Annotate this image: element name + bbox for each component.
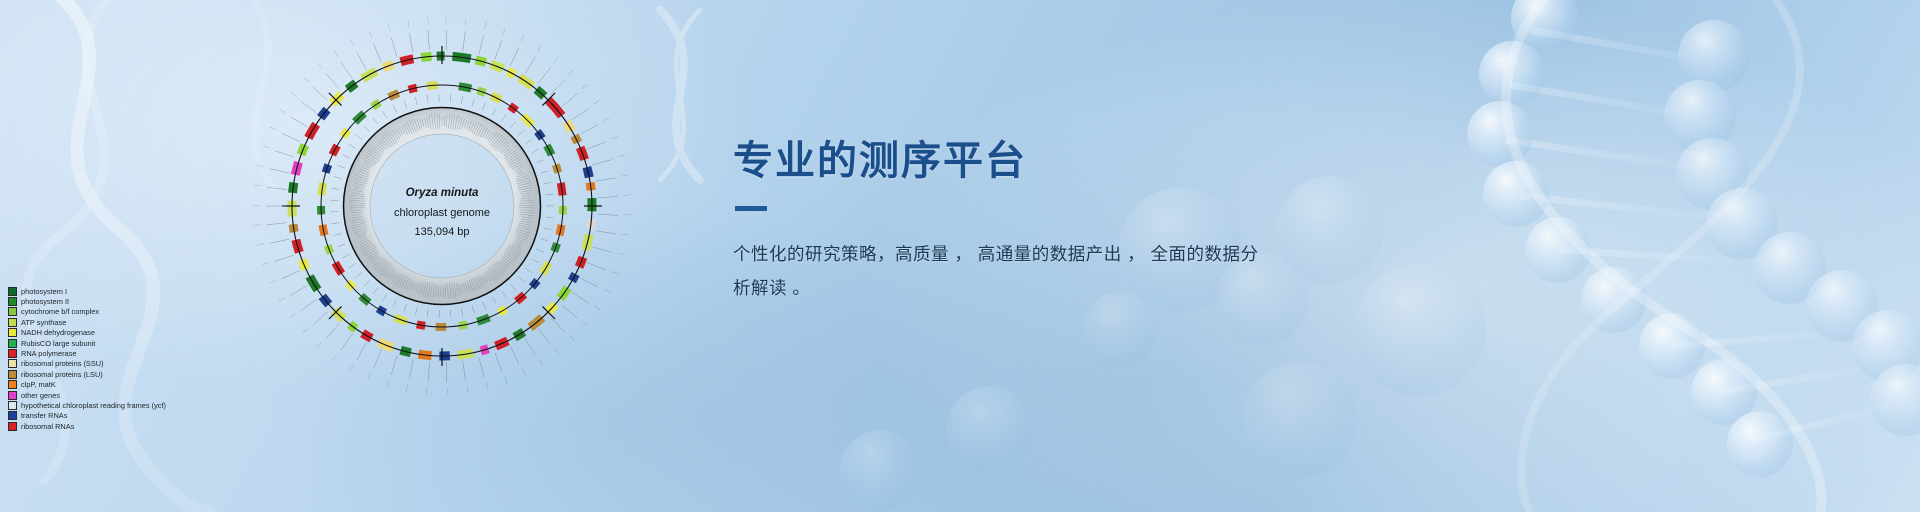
legend-color-swatch xyxy=(8,380,17,389)
genome-species-name: Oryza minuta xyxy=(406,187,479,199)
svg-text:——: —— xyxy=(624,193,632,197)
legend-item-label: transfer RNAs xyxy=(21,411,67,420)
legend-item: hypothetical chloroplast reading frames … xyxy=(8,400,298,410)
legend-color-swatch xyxy=(8,297,17,306)
legend-item: RNA polymerase xyxy=(8,348,298,358)
legend-color-swatch xyxy=(8,411,17,420)
legend-item-label: RubisCO large subunit xyxy=(21,339,95,348)
svg-text:——: —— xyxy=(622,232,630,237)
svg-text:——: —— xyxy=(256,242,264,248)
svg-text:——: —— xyxy=(617,153,625,159)
svg-text:——: —— xyxy=(262,144,270,150)
svg-text:——: —— xyxy=(315,341,323,349)
svg-text:——: —— xyxy=(253,203,261,207)
legend-color-swatch xyxy=(8,287,17,296)
svg-text:——: —— xyxy=(519,34,526,43)
legend-color-swatch xyxy=(8,359,17,368)
legend-color-swatch xyxy=(8,318,17,327)
svg-text:——: —— xyxy=(592,99,601,107)
svg-text:——: —— xyxy=(602,116,611,123)
svg-text:——: —— xyxy=(254,183,262,188)
svg-text:——: —— xyxy=(465,386,470,394)
svg-text:——: —— xyxy=(611,269,620,275)
svg-text:——: —— xyxy=(385,379,391,387)
svg-text:——: —— xyxy=(254,222,262,227)
genome-type-label: chloroplast genome xyxy=(394,207,490,219)
genome-size-label: 135,094 bp xyxy=(414,226,469,238)
svg-text:——: —— xyxy=(349,39,356,48)
svg-text:——: —— xyxy=(580,83,588,91)
legend-item-label: ribosomal proteins (LSU) xyxy=(21,370,103,379)
svg-text:——: —— xyxy=(386,24,392,32)
svg-text:——: —— xyxy=(552,55,560,63)
svg-text:——: —— xyxy=(444,16,448,24)
svg-text:——: —— xyxy=(332,50,340,59)
legend-item-label: ATP synthase xyxy=(21,318,66,327)
legend-item: other genes xyxy=(8,390,298,400)
legend-item: RubisCO large subunit xyxy=(8,338,298,348)
legend-item: NADH dehydrogenase xyxy=(8,328,298,338)
svg-text:——: —— xyxy=(621,173,629,178)
legend-item-label: NADH dehydrogenase xyxy=(21,328,95,337)
mid-dna-fragment xyxy=(660,10,700,180)
legend-item-label: RNA polymerase xyxy=(21,349,76,358)
legend-color-swatch xyxy=(8,339,17,348)
legend-item: ATP synthase xyxy=(8,317,298,327)
svg-text:——: —— xyxy=(446,388,450,396)
svg-text:——: —— xyxy=(367,31,374,40)
svg-text:——: —— xyxy=(269,278,278,285)
legend-item: clpP, matK xyxy=(8,380,298,390)
svg-text:——: —— xyxy=(503,376,509,385)
svg-text:——: —— xyxy=(257,163,265,169)
svg-text:——: —— xyxy=(463,18,468,26)
legend-item: photosystem I xyxy=(8,286,298,296)
svg-text:——: —— xyxy=(366,372,373,381)
legend-item-label: cytochrome b/f complex xyxy=(21,307,99,316)
legend-item-label: photosystem I xyxy=(21,287,67,296)
svg-text:——: —— xyxy=(302,76,310,84)
svg-text:——: —— xyxy=(301,327,309,335)
headline-underline-rule xyxy=(735,206,767,211)
svg-text:——: —— xyxy=(484,382,490,390)
legend-item-label: clpP, matK xyxy=(21,380,56,389)
svg-text:——: —— xyxy=(424,387,429,395)
hero-banner: ————————————————————————————————————————… xyxy=(0,0,1920,512)
legend-item: transfer RNAs xyxy=(8,411,298,421)
svg-text:——: —— xyxy=(426,17,431,25)
legend-color-swatch xyxy=(8,349,17,358)
svg-text:——: —— xyxy=(538,359,545,368)
legend-item-label: ribosomal proteins (SSU) xyxy=(21,359,104,368)
svg-text:——: —— xyxy=(617,251,625,257)
banner-copy: 专业的测序平台 个性化的研究策略，高质量 ， 高通量的数据产出 ， 全面的数据分… xyxy=(733,138,1433,305)
legend-color-swatch xyxy=(8,307,17,316)
svg-text:——: —— xyxy=(404,384,409,392)
svg-text:——: —— xyxy=(554,347,562,355)
legend-item-label: ribosomal RNAs xyxy=(21,422,74,431)
legend-item: ribosomal proteins (LSU) xyxy=(8,369,298,379)
svg-text:——: —— xyxy=(501,27,507,35)
svg-text:——: —— xyxy=(269,125,278,132)
legend-item: ribosomal proteins (SSU) xyxy=(8,359,298,369)
svg-text:——: —— xyxy=(567,68,575,76)
legend-color-swatch xyxy=(8,328,17,337)
svg-text:——: —— xyxy=(331,353,339,362)
legend-item-label: photosystem II xyxy=(21,297,69,306)
svg-text:——: —— xyxy=(406,20,411,28)
legend-item: cytochrome b/f complex xyxy=(8,307,298,317)
banner-subcopy: 个性化的研究策略，高质量 ， 高通量的数据产出 ， 全面的数据分析解读 。 xyxy=(733,237,1263,305)
legend-item-label: hypothetical chloroplast reading frames … xyxy=(21,401,166,410)
helix-bead-strand-right xyxy=(1664,20,1920,436)
helix-bead-strand-left xyxy=(1467,0,1793,477)
svg-text:——: —— xyxy=(593,304,602,312)
legend-item: ribosomal RNAs xyxy=(8,421,298,431)
genome-legend: photosystem I photosystem II cytochrome … xyxy=(8,286,298,431)
svg-text:——: —— xyxy=(536,44,543,53)
svg-text:——: —— xyxy=(568,334,576,342)
svg-text:——: —— xyxy=(603,287,612,294)
legend-color-swatch xyxy=(8,391,17,400)
banner-headline: 专业的测序平台 xyxy=(733,138,1433,184)
svg-text:——: —— xyxy=(317,62,325,70)
svg-text:——: —— xyxy=(610,134,619,140)
legend-color-swatch xyxy=(8,422,17,431)
right-dna-helix xyxy=(1467,0,1920,512)
svg-text:——: —— xyxy=(582,320,590,328)
svg-text:——: —— xyxy=(521,368,528,377)
svg-text:——: —— xyxy=(624,213,632,217)
legend-color-swatch xyxy=(8,401,17,410)
svg-text:——: —— xyxy=(482,21,488,29)
svg-text:——: —— xyxy=(289,91,297,99)
legend-item: photosystem II xyxy=(8,296,298,306)
svg-text:——: —— xyxy=(278,107,287,114)
legend-item-label: other genes xyxy=(21,391,60,400)
legend-color-swatch xyxy=(8,370,17,379)
svg-text:——: —— xyxy=(348,363,355,372)
svg-text:——: —— xyxy=(261,260,269,266)
